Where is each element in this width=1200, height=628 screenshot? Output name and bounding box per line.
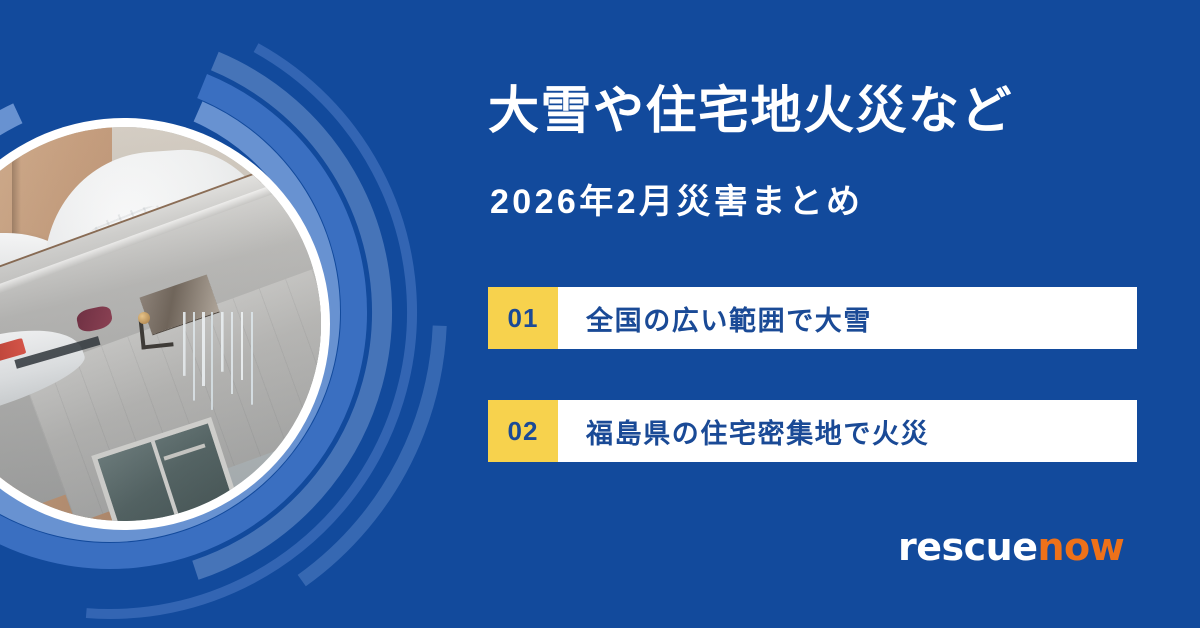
logo-text-rescue: rescue [898, 525, 1037, 569]
logo-text-now: now [1037, 525, 1124, 569]
list-item[interactable]: 02 福島県の住宅密集地で火災 [488, 400, 1137, 462]
list-item[interactable]: 01 全国の広い範囲で大雪 [488, 287, 1137, 349]
photo-snow-roof [0, 127, 321, 521]
photo-circle-frame [0, 118, 330, 530]
topic-list: 01 全国の広い範囲で大雪 02 福島県の住宅密集地で火災 [488, 287, 1137, 513]
list-item-label: 福島県の住宅密集地で火災 [558, 400, 1137, 462]
photo-layer-grade [0, 127, 321, 521]
poster-canvas: 大雪や住宅地火災など 2026年2月災害まとめ 01 全国の広い範囲で大雪 02… [0, 0, 1200, 628]
page-title: 大雪や住宅地火災など [488, 82, 1013, 139]
rescuenow-logo[interactable]: rescuenow [898, 528, 1124, 566]
list-item-number-badge: 02 [488, 400, 558, 462]
content-column: 大雪や住宅地火災など 2026年2月災害まとめ 01 全国の広い範囲で大雪 02… [488, 0, 1200, 628]
list-item-number-badge: 01 [488, 287, 558, 349]
list-item-label: 全国の広い範囲で大雪 [558, 287, 1137, 349]
page-subtitle: 2026年2月災害まとめ [490, 174, 863, 223]
